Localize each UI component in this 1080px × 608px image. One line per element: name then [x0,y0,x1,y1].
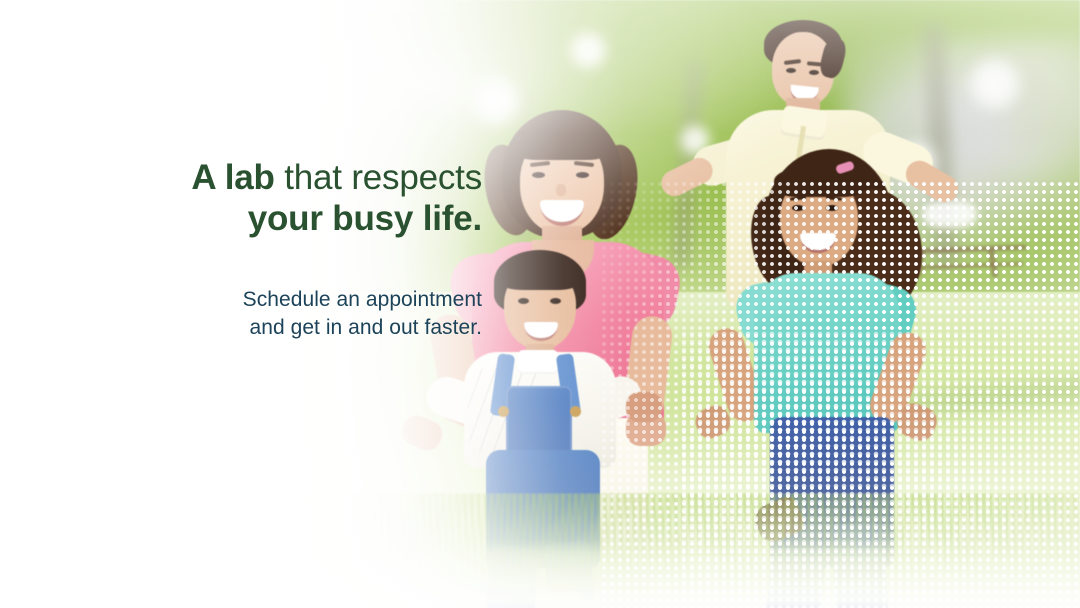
subheading: Schedule an appointment and get in and o… [0,286,482,341]
headline: A lab that respects your busy life. [0,158,482,240]
mother-eye [576,172,589,178]
girl-eye [792,205,804,211]
promo-banner: A lab that respects your busy life. Sche… [0,0,1080,608]
father-eye [786,68,796,73]
grass-foreground-blur [194,547,1080,608]
mother-fringe [514,124,610,160]
father-eye [809,70,819,75]
subheading-line1: Schedule an appointment [0,286,482,314]
boy-collar [518,350,558,374]
headline-emphasis: A lab [191,158,274,197]
girl-eye [826,205,838,211]
subheading-line2: and get in and out faster. [0,314,482,342]
mother-eye [532,172,545,178]
boy-overall-button [498,406,509,417]
boy-right-hand [626,392,662,422]
headline-line1-rest: that respects [275,158,482,197]
headline-line2: your busy life. [0,199,482,240]
boy-bangs [498,260,582,290]
boy-overall-button [570,406,581,417]
mother-nose [556,184,566,196]
copy-block: A lab that respects your busy life. Sche… [0,158,482,341]
boy-eye [518,298,529,304]
boy-eye [550,298,561,304]
